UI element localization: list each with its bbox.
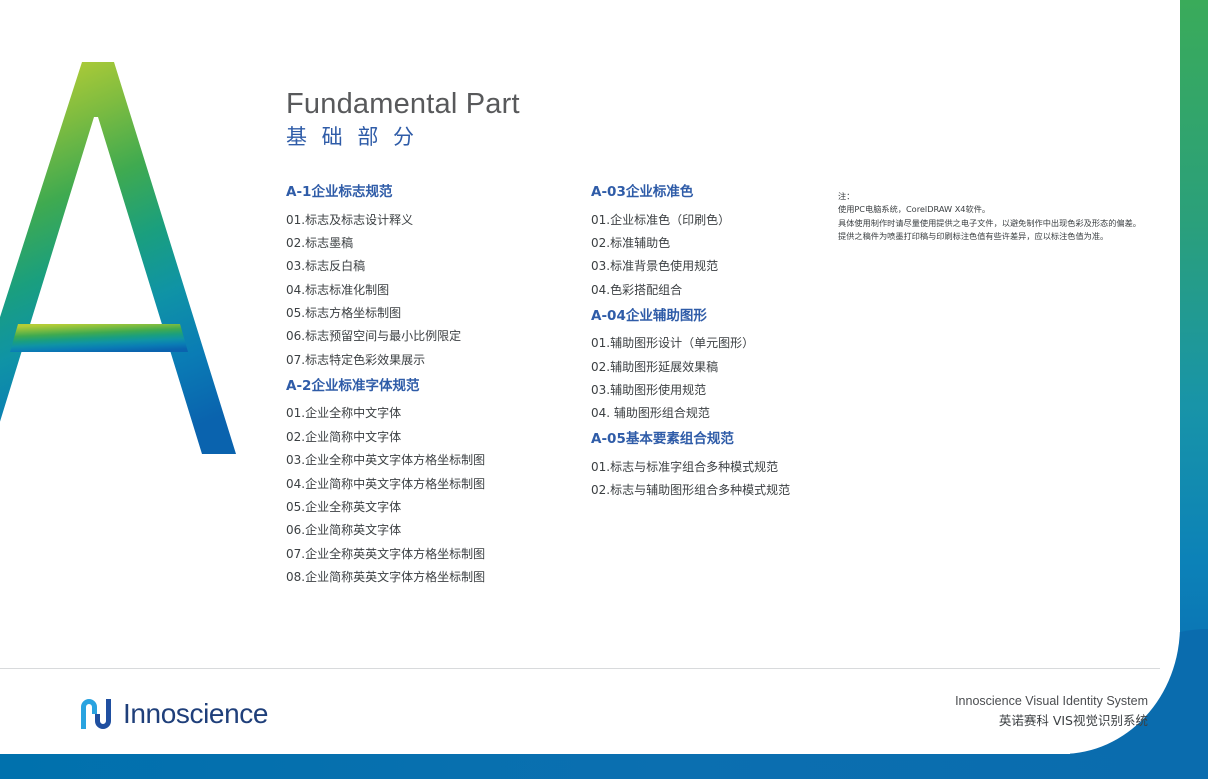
toc-item[interactable]: 02.标志与辅助图形组合多种模式规范 <box>591 484 881 496</box>
toc-item[interactable]: 04. 辅助图形组合规范 <box>591 407 881 419</box>
toc-item[interactable]: 03.企业全称中英文字体方格坐标制图 <box>286 454 576 466</box>
toc-section-heading: A-1企业标志规范 <box>286 186 576 200</box>
note-line: 具体使用制作时请尽量使用提供之电子文件，以避免制作中出现色彩及形态的偏差。 <box>838 217 1178 230</box>
bottom-blue-bar <box>0 754 1208 779</box>
footer-logo: Innoscience <box>78 696 268 732</box>
toc-section: A-04企业辅助图形 01.辅助图形设计（单元图形） 02.辅助图形延展效果稿 … <box>591 310 881 420</box>
toc-item[interactable]: 05.标志方格坐标制图 <box>286 307 576 319</box>
innoscience-logo-mark-icon <box>78 696 114 732</box>
toc-section-heading: A-2企业标准字体规范 <box>286 380 576 394</box>
toc-item[interactable]: 01.辅助图形设计（单元图形） <box>591 337 881 349</box>
toc-section-heading: A-04企业辅助图形 <box>591 310 881 324</box>
toc-item[interactable]: 01.标志与标准字组合多种模式规范 <box>591 461 881 473</box>
note-line: 注： <box>838 190 1178 203</box>
note-line: 使用PC电脑系统，CorelDRAW X4软件。 <box>838 203 1178 216</box>
toc-column-left: A-1企业标志规范 01.标志及标志设计释义 02.标志墨稿 03.标志反白稿 … <box>286 186 576 594</box>
footer-identity-text: Innoscience Visual Identity System 英诺赛科 … <box>955 692 1148 731</box>
document-page: Fundamental Part 基 础 部 分 A-1企业标志规范 01.标志… <box>0 0 1208 779</box>
toc-item[interactable]: 01.标志及标志设计释义 <box>286 214 576 226</box>
production-note: 注： 使用PC电脑系统，CorelDRAW X4软件。 具体使用制作时请尽量使用… <box>838 190 1178 243</box>
toc-item[interactable]: 07.标志特定色彩效果展示 <box>286 354 576 366</box>
toc-item[interactable]: 07.企业全称英英文字体方格坐标制图 <box>286 548 576 560</box>
toc-section: A-05基本要素组合规范 01.标志与标准字组合多种模式规范 02.标志与辅助图… <box>591 433 881 496</box>
note-line: 提供之稿件为喷墨打印稿与印刷标注色值有些许差异，应以标注色值为准。 <box>838 230 1178 243</box>
toc-item[interactable]: 03.辅助图形使用规范 <box>591 384 881 396</box>
toc-item[interactable]: 08.企业简称英英文字体方格坐标制图 <box>286 571 576 583</box>
toc-item[interactable]: 02.企业简称中文字体 <box>286 431 576 443</box>
decorative-letter-a <box>0 62 246 454</box>
page-title-chinese: 基 础 部 分 <box>286 125 520 149</box>
footer-text-chinese: 英诺赛科 VIS视觉识别系统 <box>955 711 1148 730</box>
innoscience-wordmark: Innoscience <box>123 700 268 728</box>
toc-section: A-2企业标准字体规范 01.企业全称中文字体 02.企业简称中文字体 03.企… <box>286 380 576 583</box>
toc-section-heading: A-05基本要素组合规范 <box>591 433 881 447</box>
toc-item[interactable]: 03.标志反白稿 <box>286 260 576 272</box>
footer-text-english: Innoscience Visual Identity System <box>955 692 1148 711</box>
page-title-block: Fundamental Part 基 础 部 分 <box>286 88 520 150</box>
toc-item[interactable]: 02.标志墨稿 <box>286 237 576 249</box>
toc-section: A-1企业标志规范 01.标志及标志设计释义 02.标志墨稿 03.标志反白稿 … <box>286 186 576 366</box>
toc-item[interactable]: 04.色彩搭配组合 <box>591 284 881 296</box>
footer-divider-line <box>0 668 1160 669</box>
toc-item[interactable]: 06.标志预留空间与最小比例限定 <box>286 330 576 342</box>
toc-item[interactable]: 06.企业简称英文字体 <box>286 524 576 536</box>
toc-item[interactable]: 04.企业简称中英文字体方格坐标制图 <box>286 478 576 490</box>
toc-item[interactable]: 01.企业全称中文字体 <box>286 407 576 419</box>
toc-item[interactable]: 04.标志标准化制图 <box>286 284 576 296</box>
toc-item[interactable]: 02.辅助图形延展效果稿 <box>591 361 881 373</box>
page-title-english: Fundamental Part <box>286 88 520 120</box>
toc-item[interactable]: 05.企业全称英文字体 <box>286 501 576 513</box>
toc-item[interactable]: 03.标准背景色使用规范 <box>591 260 881 272</box>
